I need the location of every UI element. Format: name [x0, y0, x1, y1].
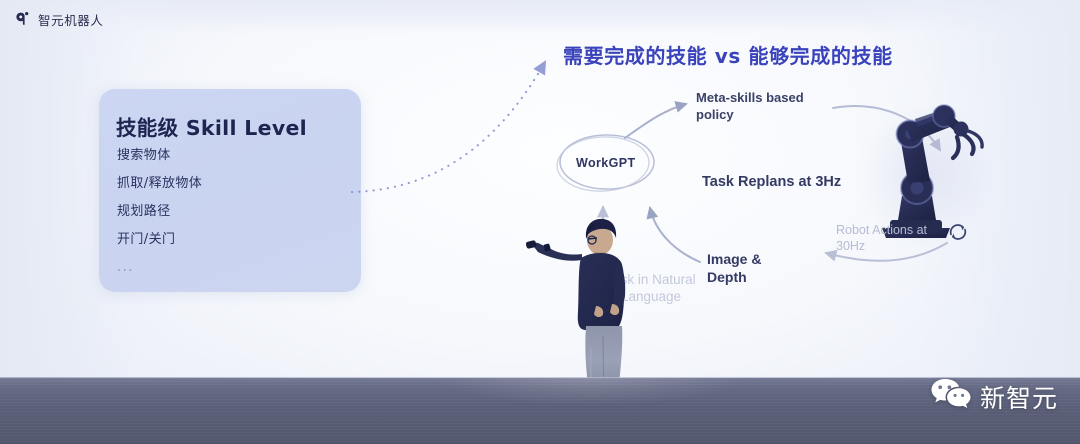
- skill-panel-title: 技能级 Skill Level: [116, 111, 307, 141]
- floor-light-reflection: [380, 378, 800, 444]
- slide-headline: 需要完成的技能 vs 能够完成的技能: [563, 40, 893, 69]
- skill-list: 搜索物体 抓取/释放物体 规划路径 开门/关门 ...: [117, 149, 347, 289]
- channel-watermark: 新智元: [930, 377, 1058, 416]
- skill-list-item: 规划路径: [117, 205, 347, 218]
- aiyuan-logo-mark-icon: [14, 11, 31, 28]
- skill-list-item-ellipsis: ...: [117, 261, 347, 274]
- wechat-icon: [930, 377, 972, 416]
- brand-name: 智元机器人: [38, 10, 104, 29]
- node-label-task-replans: Task Replans at 3Hz: [702, 173, 841, 192]
- skill-level-panel: 技能级 Skill Level 搜索物体 抓取/释放物体 规划路径 开门/关门 …: [99, 89, 361, 292]
- skill-list-item: 开门/关门: [117, 233, 347, 246]
- watermark-text: 新智元: [980, 379, 1058, 415]
- skill-list-item: 抓取/释放物体: [117, 177, 347, 190]
- node-label-meta-skills: Meta-skills based policy: [696, 90, 826, 123]
- brand-logo: 智元机器人: [14, 10, 104, 29]
- node-label-workgpt: WorkGPT: [576, 155, 636, 171]
- presentation-screenshot: 智元机器人 技能级 Skill Level 搜索物体 抓取/释放物体 规划路径 …: [0, 0, 1080, 444]
- skill-list-item: 搜索物体: [117, 149, 347, 162]
- node-label-robot-actions: Robot Actions at 30Hz: [836, 222, 956, 254]
